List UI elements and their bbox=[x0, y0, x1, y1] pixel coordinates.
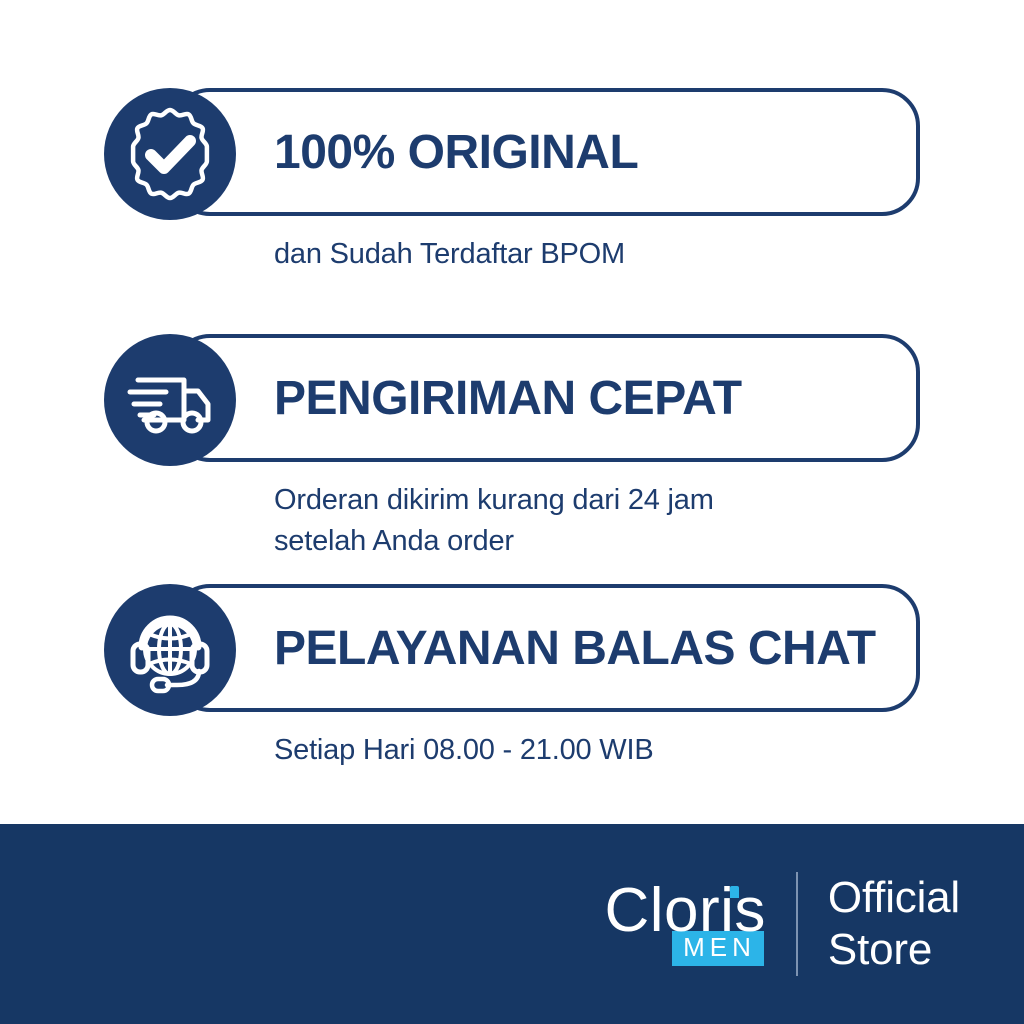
official-store-label: Official Store bbox=[828, 872, 960, 976]
footer-lockup: Cloris MEN Official Store bbox=[604, 824, 960, 1024]
feature-item-support: PELAYANAN BALAS CHAT bbox=[104, 584, 920, 771]
verified-badge-icon bbox=[104, 88, 236, 220]
feature-title: PELAYANAN BALAS CHAT bbox=[274, 584, 876, 712]
feature-subtitle: dan Sudah Terdaftar BPOM bbox=[104, 234, 920, 275]
feature-item-original: 100% ORIGINAL dan Sudah Terdaftar BPOM bbox=[104, 88, 920, 275]
feature-subtitle-line: Orderan dikirim kurang dari 24 jam bbox=[274, 480, 920, 521]
delivery-truck-icon bbox=[104, 334, 236, 466]
footer-divider bbox=[796, 872, 798, 976]
feature-subtitle-line: setelah Anda order bbox=[274, 521, 920, 562]
feature-list: 100% ORIGINAL dan Sudah Terdaftar BPOM P… bbox=[0, 0, 1024, 824]
brand-logo: Cloris MEN bbox=[604, 882, 765, 965]
feature-subtitle: Orderan dikirim kurang dari 24 jam setel… bbox=[104, 480, 920, 562]
feature-subtitle: Setiap Hari 08.00 - 21.00 WIB bbox=[104, 730, 920, 771]
footer-bar: Cloris MEN Official Store bbox=[0, 824, 1024, 1024]
brand-name-text: Cloris bbox=[604, 876, 765, 945]
brand-wordmark: Cloris bbox=[604, 882, 765, 941]
feature-subtitle-line: dan Sudah Terdaftar BPOM bbox=[274, 234, 920, 275]
feature-title: PENGIRIMAN CEPAT bbox=[274, 334, 742, 462]
feature-bar: PENGIRIMAN CEPAT bbox=[104, 334, 920, 462]
headset-globe-icon bbox=[104, 584, 236, 716]
official-store-line: Store bbox=[828, 924, 960, 976]
feature-bar: 100% ORIGINAL bbox=[104, 88, 920, 216]
feature-bar: PELAYANAN BALAS CHAT bbox=[104, 584, 920, 712]
feature-subtitle-line: Setiap Hari 08.00 - 21.00 WIB bbox=[274, 730, 920, 771]
feature-item-shipping: PENGIRIMAN CEPAT bbox=[104, 334, 920, 562]
brand-dot-accent bbox=[730, 886, 739, 898]
official-store-line: Official bbox=[828, 872, 960, 924]
promo-banner: 100% ORIGINAL dan Sudah Terdaftar BPOM P… bbox=[0, 0, 1024, 1024]
feature-title: 100% ORIGINAL bbox=[274, 88, 638, 216]
